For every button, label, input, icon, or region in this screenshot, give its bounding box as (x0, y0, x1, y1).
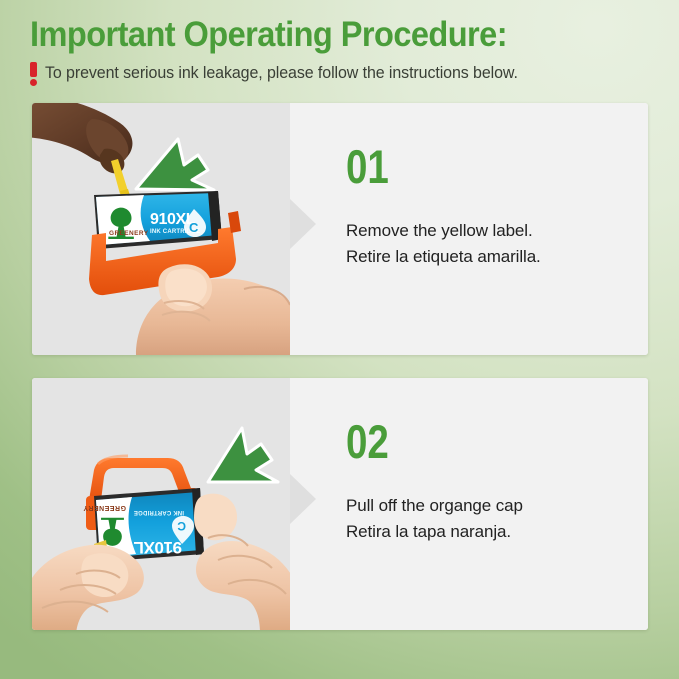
step-card-02: GREENERY 910XL INK CARTRIDGE C (32, 378, 648, 630)
step-instruction-es-02: Retira la tapa naranja. (346, 519, 648, 545)
step-photo-01: GREENERY 910XL INK CARTRIDGE C (32, 103, 290, 355)
svg-text:C: C (177, 519, 186, 533)
step-info-01: 01 Remove the yellow label. Retire la et… (290, 103, 648, 355)
svg-text:INK CARTRIDGE: INK CARTRIDGE (134, 509, 184, 515)
svg-text:GREENERY: GREENERY (109, 230, 149, 237)
chevron-right-icon (290, 199, 316, 249)
warning-subtitle: To prevent serious ink leakage, please f… (45, 64, 518, 83)
step-instruction-en-01: Remove the yellow label. (346, 218, 648, 244)
step-info-02: 02 Pull off the organge cap Retira la ta… (290, 378, 648, 630)
chevron-right-icon (290, 474, 316, 524)
exclamation-icon (30, 62, 37, 85)
poster-header: Important Operating Procedure: To preven… (0, 0, 679, 96)
warning-row: To prevent serious ink leakage, please f… (30, 62, 532, 85)
page-title: Important Operating Procedure: (30, 16, 507, 54)
svg-text:910XL: 910XL (134, 538, 182, 557)
step-instruction-02: Pull off the organge cap Retira la tapa … (346, 493, 648, 545)
step-card-01: GREENERY 910XL INK CARTRIDGE C (32, 103, 648, 355)
step-instruction-01: Remove the yellow label. Retire la etiqu… (346, 218, 648, 270)
step-instruction-es-01: Retire la etiqueta amarilla. (346, 244, 648, 270)
step-photo-02: GREENERY 910XL INK CARTRIDGE C (32, 378, 290, 630)
instruction-poster: Important Operating Procedure: To preven… (0, 0, 679, 679)
step-instruction-en-02: Pull off the organge cap (346, 493, 648, 519)
svg-text:GREENERY: GREENERY (83, 504, 126, 511)
step-number-02: 02 (346, 418, 594, 465)
step-number-01: 01 (346, 143, 594, 190)
svg-text:C: C (189, 220, 199, 235)
